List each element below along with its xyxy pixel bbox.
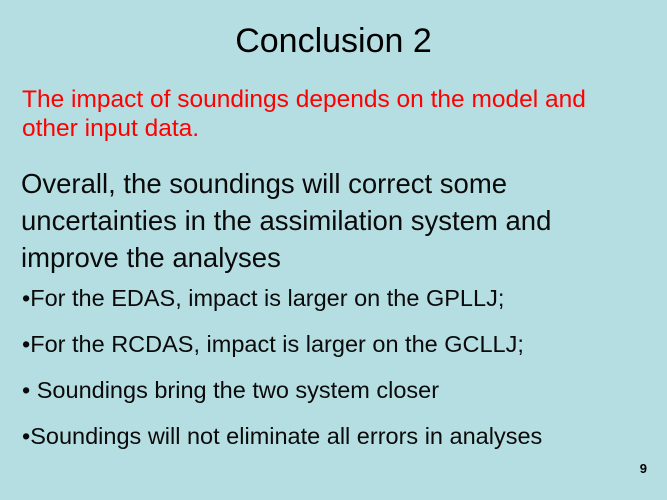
slide-page-number: 9 [640,461,647,476]
conclusion-bullet-list: •For the EDAS, impact is larger on the G… [22,285,647,469]
list-item: •For the RCDAS, impact is larger on the … [22,331,647,358]
page-title: Conclusion 2 [0,21,667,61]
presentation-slide: Conclusion 2 The impact of soundings dep… [0,0,667,500]
list-item: •Soundings will not eliminate all errors… [22,423,647,450]
list-item: •For the EDAS, impact is larger on the G… [22,285,647,312]
list-item: • Soundings bring the two system closer [22,377,647,404]
highlight-paragraph: The impact of soundings depends on the m… [22,85,634,143]
summary-paragraph: Overall, the soundings will correct some… [21,165,636,276]
